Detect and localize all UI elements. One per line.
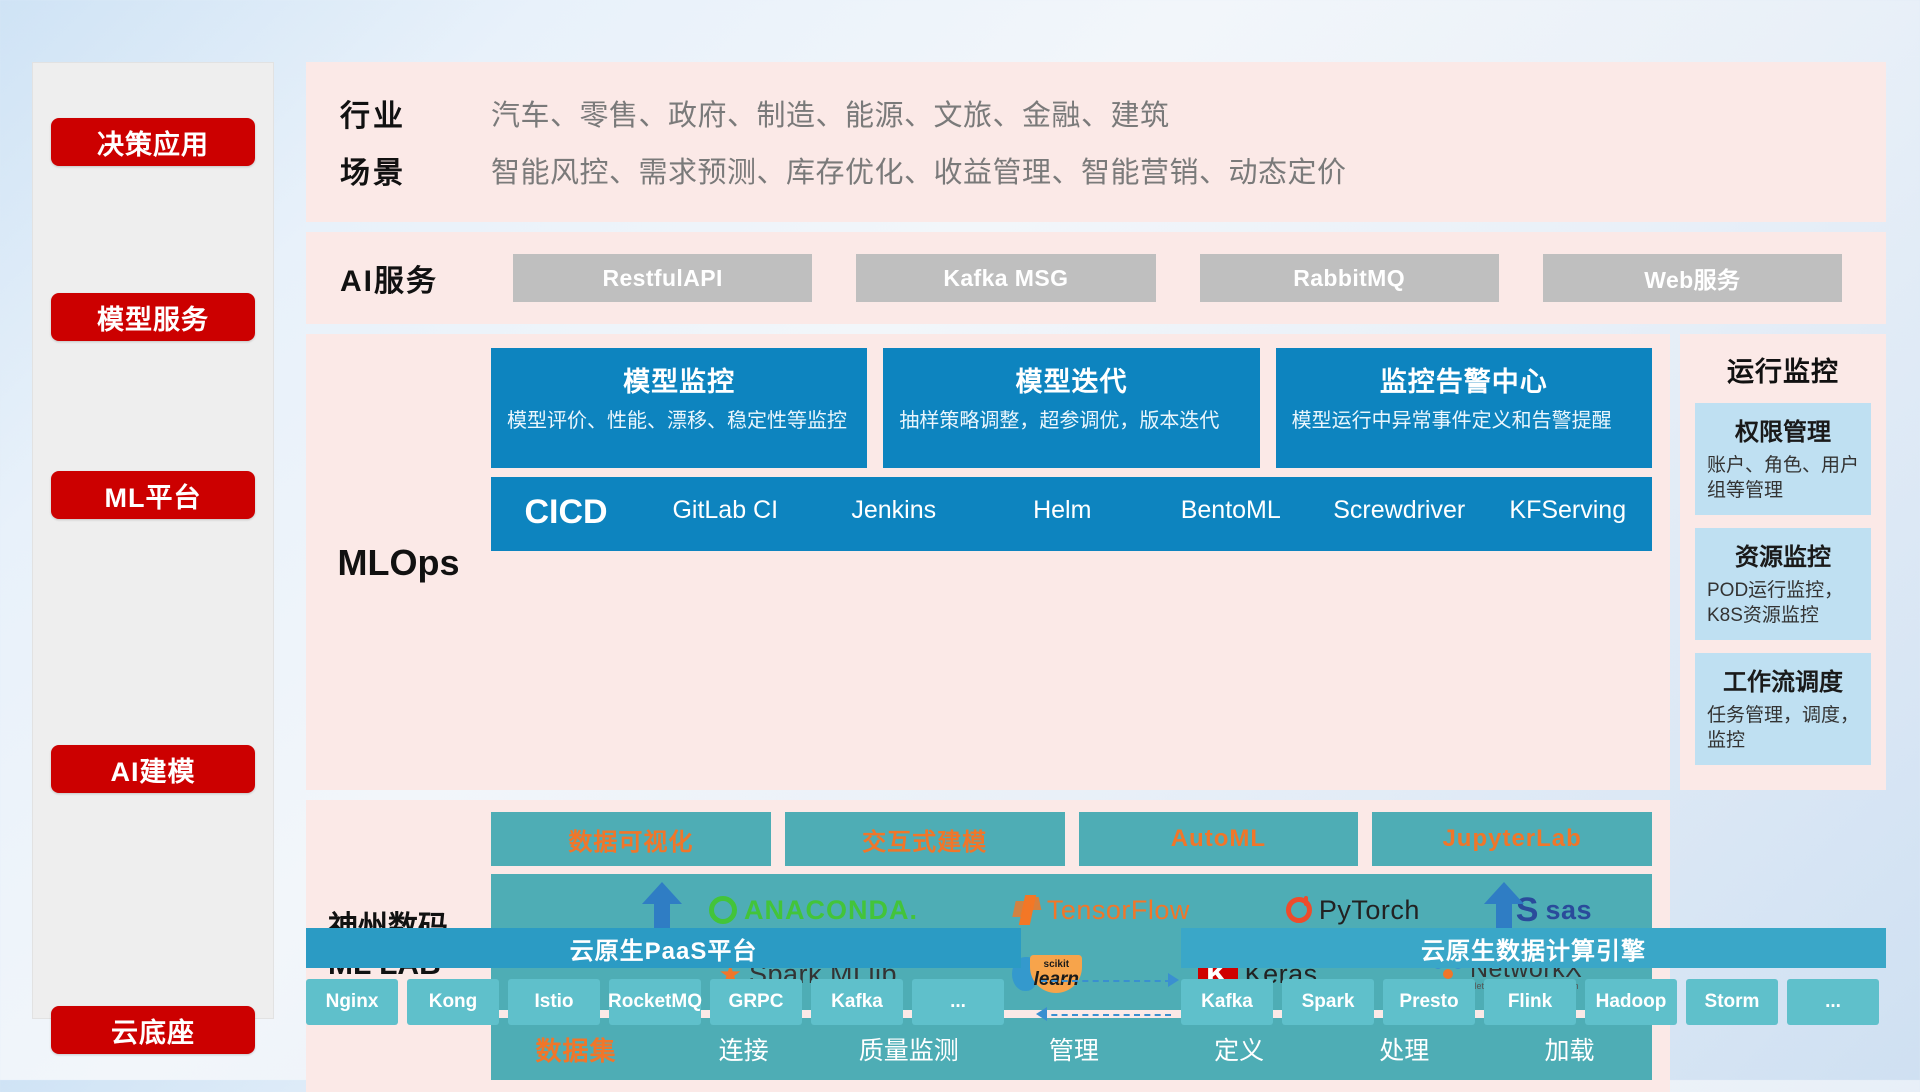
compute-chip-storm[interactable]: Storm <box>1686 979 1778 1025</box>
paas-chip-nginx[interactable]: Nginx <box>306 979 398 1025</box>
scenario-values: 智能风控、需求预测、库存优化、收益管理、智能营销、动态定价 <box>491 149 1347 191</box>
cicd-item-screwdriver[interactable]: Screwdriver <box>1315 477 1484 525</box>
ai-service-label: AI服务 <box>306 256 491 300</box>
paas-chip-rocketmq[interactable]: RocketMQ <box>609 979 701 1025</box>
ai-service-band: AI服务 RestfulAPI Kafka MSG RabbitMQ Web服务 <box>306 232 1886 324</box>
card-title: 监控告警中心 <box>1292 360 1636 399</box>
paas-chip-istio[interactable]: Istio <box>508 979 600 1025</box>
card-desc: 任务管理，调度，监控 <box>1707 703 1859 753</box>
mlops-card-row: 模型监控 模型评价、性能、漂移、稳定性等监控 模型迭代 抽样策略调整，超参调优，… <box>491 348 1652 468</box>
paas-chip-kafka[interactable]: Kafka <box>811 979 903 1025</box>
paas-bar[interactable]: 云原生PaaS平台 <box>306 928 1021 968</box>
cicd-item-kfserving[interactable]: KFServing <box>1484 477 1653 525</box>
scenario-row: 场景 智能风控、需求预测、库存优化、收益管理、智能营销、动态定价 <box>306 141 1886 198</box>
ai-service-items: RestfulAPI Kafka MSG RabbitMQ Web服务 <box>491 254 1886 302</box>
industry-label: 行业 <box>306 91 491 135</box>
rail-item-model-service[interactable]: 模型服务 <box>51 293 255 341</box>
mlops-card-model-monitoring[interactable]: 模型监控 模型评价、性能、漂移、稳定性等监控 <box>491 348 867 468</box>
tool-jupyterlab[interactable]: JupyterLab <box>1372 812 1652 866</box>
scenario-label: 场景 <box>306 148 491 192</box>
compute-bar[interactable]: 云原生数据计算引擎 <box>1181 928 1886 968</box>
ai-service-rabbitmq[interactable]: RabbitMQ <box>1200 254 1499 302</box>
compute-chip-spark[interactable]: Spark <box>1282 979 1374 1025</box>
decision-application-band: 行业 汽车、零售、政府、制造、能源、文旅、金融、建筑 场景 智能风控、需求预测、… <box>306 62 1886 222</box>
compute-chip-more[interactable]: ... <box>1787 979 1879 1025</box>
rail-item-cloud-base[interactable]: 云底座 <box>51 1006 255 1054</box>
architecture-diagram: 决策应用 模型服务 ML平台 AI建模 云底座 行业 汽车、零售、政府、制造、能… <box>0 0 1920 1080</box>
card-desc: 账户、角色、用户组等管理 <box>1707 453 1859 503</box>
cicd-item-gitlab-ci[interactable]: GitLab CI <box>641 477 810 525</box>
monitoring-card-permission[interactable]: 权限管理 账户、角色、用户组等管理 <box>1695 403 1871 515</box>
paas-chip-grpc[interactable]: GRPC <box>710 979 802 1025</box>
paas-chip-kong[interactable]: Kong <box>407 979 499 1025</box>
mlops-band: MLOps 模型监控 模型评价、性能、漂移、稳定性等监控 模型迭代 抽样策略调整… <box>306 334 1670 790</box>
cicd-item-jenkins[interactable]: Jenkins <box>810 477 979 525</box>
cicd-item-helm[interactable]: Helm <box>978 477 1147 525</box>
tool-data-visualization[interactable]: 数据可视化 <box>491 812 771 866</box>
card-desc: 模型运行中异常事件定义和告警提醒 <box>1292 408 1636 435</box>
rail-label: AI建模 <box>111 750 196 789</box>
card-title: 模型监控 <box>507 360 851 399</box>
compute-chip-hadoop[interactable]: Hadoop <box>1585 979 1677 1025</box>
cicd-row: CICD GitLab CI Jenkins Helm BentoML Scre… <box>491 477 1652 551</box>
rail-label: 云底座 <box>111 1011 195 1050</box>
industry-values: 汽车、零售、政府、制造、能源、文旅、金融、建筑 <box>491 92 1170 134</box>
industry-row: 行业 汽车、零售、政府、制造、能源、文旅、金融、建筑 <box>306 84 1886 141</box>
monitoring-title: 运行监控 <box>1727 350 1839 389</box>
card-desc: 模型评价、性能、漂移、稳定性等监控 <box>507 408 851 435</box>
rail-label: ML平台 <box>105 476 202 515</box>
cicd-item-bentoml[interactable]: BentoML <box>1147 477 1316 525</box>
ai-service-web[interactable]: Web服务 <box>1543 254 1842 302</box>
ml-lab-tool-row: 数据可视化 交互式建模 AutoML JupyterLab <box>491 812 1652 866</box>
monitoring-rail: 运行监控 权限管理 账户、角色、用户组等管理 资源监控 POD运行监控，K8S资… <box>1680 334 1886 790</box>
cicd-label: CICD <box>491 477 641 532</box>
mlops-card-alert-center[interactable]: 监控告警中心 模型运行中异常事件定义和告警提醒 <box>1276 348 1652 468</box>
rail-item-ai-modeling[interactable]: AI建模 <box>51 745 255 793</box>
ai-service-kafka-msg[interactable]: Kafka MSG <box>856 254 1155 302</box>
rail-item-ml-platform[interactable]: ML平台 <box>51 471 255 519</box>
tool-automl[interactable]: AutoML <box>1079 812 1359 866</box>
card-title: 权限管理 <box>1707 412 1859 447</box>
compute-chip-row: Kafka Spark Presto Flink Hadoop Storm ..… <box>1181 979 1886 1025</box>
card-title: 模型迭代 <box>899 360 1243 399</box>
paas-chip-more[interactable]: ... <box>912 979 1004 1025</box>
mlops-section: MLOps 模型监控 模型评价、性能、漂移、稳定性等监控 模型迭代 抽样策略调整… <box>306 334 1886 790</box>
card-desc: POD运行监控，K8S资源监控 <box>1707 578 1859 628</box>
mlops-content: 模型监控 模型评价、性能、漂移、稳定性等监控 模型迭代 抽样策略调整，超参调优，… <box>491 348 1670 778</box>
mlops-card-model-iteration[interactable]: 模型迭代 抽样策略调整，超参调优，版本迭代 <box>883 348 1259 468</box>
monitoring-card-workflow[interactable]: 工作流调度 任务管理，调度，监控 <box>1695 653 1871 765</box>
rail-label: 决策应用 <box>97 123 209 162</box>
cloud-foundation-section: 云原生PaaS平台 Nginx Kong Istio RocketMQ GRPC… <box>306 880 1886 1052</box>
cicd-items: GitLab CI Jenkins Helm BentoML Screwdriv… <box>641 477 1652 525</box>
card-title: 工作流调度 <box>1707 662 1859 697</box>
rail-label: 模型服务 <box>97 298 209 337</box>
rail-item-decision-app[interactable]: 决策应用 <box>51 118 255 166</box>
compute-chip-kafka[interactable]: Kafka <box>1181 979 1273 1025</box>
monitoring-card-resource[interactable]: 资源监控 POD运行监控，K8S资源监控 <box>1695 528 1871 640</box>
paas-chip-row: Nginx Kong Istio RocketMQ GRPC Kafka ... <box>306 979 1021 1025</box>
layer-rail: 决策应用 模型服务 ML平台 AI建模 云底座 <box>32 62 274 1019</box>
ai-service-restfulapi[interactable]: RestfulAPI <box>513 254 812 302</box>
card-desc: 抽样策略调整，超参调优，版本迭代 <box>899 408 1243 435</box>
paas-column: 云原生PaaS平台 Nginx Kong Istio RocketMQ GRPC… <box>306 928 1021 1025</box>
compute-chip-presto[interactable]: Presto <box>1383 979 1475 1025</box>
card-title: 资源监控 <box>1707 537 1859 572</box>
tool-interactive-modeling[interactable]: 交互式建模 <box>785 812 1065 866</box>
compute-column: 云原生数据计算引擎 Kafka Spark Presto Flink Hadoo… <box>1181 928 1886 1025</box>
mlops-label: MLOps <box>306 348 491 778</box>
compute-chip-flink[interactable]: Flink <box>1484 979 1576 1025</box>
